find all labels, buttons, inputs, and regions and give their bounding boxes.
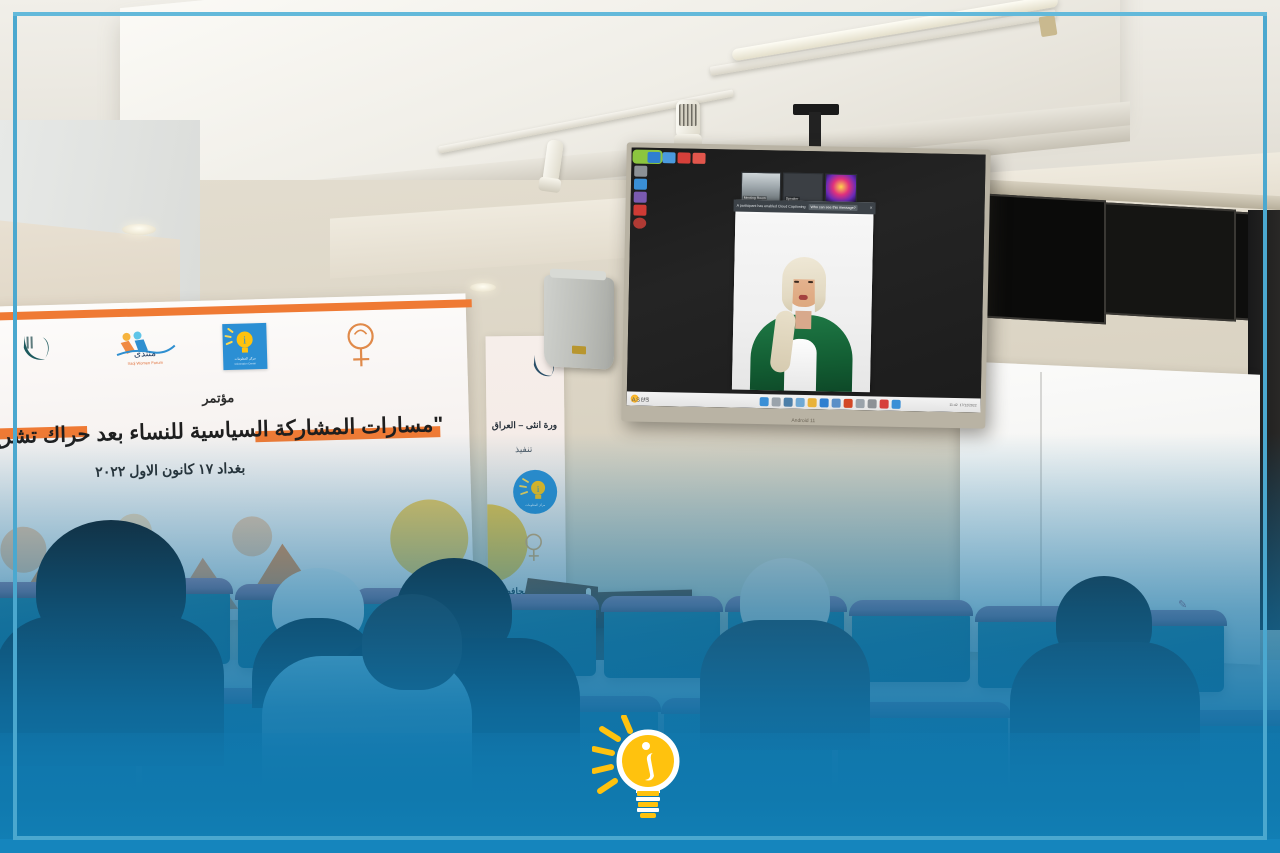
chair <box>852 604 970 682</box>
zoom-icon[interactable] <box>819 398 828 407</box>
shortcut-blue-3[interactable] <box>634 179 647 190</box>
taskbar-icon-group <box>711 396 950 410</box>
information-center-logo: i مركز المعلومات Information Center <box>222 323 267 370</box>
window-pane-middle <box>1104 202 1236 321</box>
windows-taskbar[interactable]: 14°C <box>627 391 981 412</box>
shortcut-icon-column <box>633 166 647 229</box>
display-brand-label: ASUS <box>632 398 650 404</box>
speaker-badge <box>572 346 586 355</box>
banner-title: "مسارات المشاركة السياسية للنساء بعد حرا… <box>0 412 453 451</box>
shortcut-red-3[interactable] <box>633 205 646 216</box>
speaker-eye <box>794 281 799 283</box>
svg-text:i: i <box>243 335 246 347</box>
rollup-line-2: تنفيذ <box>487 444 561 456</box>
photo-layer: ✎ <box>0 0 1280 853</box>
ceiling-downlight <box>470 283 496 292</box>
spotlight-grill <box>679 104 697 126</box>
notification-message: A participant has enabled Cloud Captioni… <box>737 204 806 209</box>
attendee-shoulders <box>0 616 224 766</box>
mail-icon[interactable] <box>855 399 864 408</box>
banner-subtitle: بغداد ١٧ كانون الاول ٢٠٢٢ <box>0 457 350 484</box>
chair <box>1186 714 1280 853</box>
search-icon[interactable] <box>771 397 780 406</box>
speaker-mouth <box>799 295 808 300</box>
acrobat-icon[interactable] <box>879 399 888 408</box>
shortcut-blue-1[interactable] <box>647 152 660 163</box>
svg-text:Information Center: Information Center <box>235 361 257 366</box>
svg-text:Iraqi Women Forum: Iraqi Women Forum <box>128 360 164 366</box>
attendee-shoulders <box>1010 642 1200 782</box>
speaker-eye <box>808 281 813 283</box>
upper-windows <box>952 186 1280 389</box>
participant-thumbnail-strip: Meeting Room Speaker <box>741 172 858 203</box>
file-explorer-icon[interactable] <box>807 398 816 407</box>
notification-help-button[interactable]: Who can see this message? <box>808 204 857 211</box>
media-icon[interactable] <box>867 399 876 408</box>
store-icon[interactable] <box>891 399 900 408</box>
wall-mounted-display[interactable]: Meeting Room Speaker <box>621 142 991 428</box>
participant-thumbnail-room[interactable]: Meeting Room <box>741 172 782 202</box>
windows-desktop: Meeting Room Speaker <box>627 147 986 412</box>
active-speaker-video <box>732 214 874 393</box>
clock-text: 11:42 <box>949 403 957 407</box>
powerpoint-icon[interactable] <box>843 398 852 407</box>
auditorium-seating <box>0 520 1280 853</box>
speaker-bracket <box>550 268 606 280</box>
start-icon[interactable] <box>759 397 768 406</box>
event-photo-canvas: ✎ <box>0 0 1280 853</box>
teams-icon[interactable] <box>831 398 840 407</box>
shortcut-record[interactable] <box>633 218 646 229</box>
edge-icon[interactable] <box>795 397 804 406</box>
participant-thumbnail-person[interactable]: Speaker <box>783 173 824 203</box>
taskbar-system-tray[interactable]: 11:42 17/12/2022 <box>949 403 980 408</box>
fluorescent-tube-bracket <box>1039 15 1058 37</box>
shortcut-icon-row <box>647 152 705 164</box>
ceiling-downlight <box>122 224 156 235</box>
close-icon[interactable]: × <box>870 205 873 211</box>
forum-logo: منتدى Iraqi Women Forum <box>110 327 181 369</box>
task-view-icon[interactable] <box>783 397 792 406</box>
participant-thumbnail-logo[interactable] <box>825 173 858 203</box>
svg-text:مركز المعلومات: مركز المعلومات <box>234 356 256 361</box>
shortcut-grey[interactable] <box>634 166 647 177</box>
shortcut-blue-2[interactable] <box>662 152 675 163</box>
banner-logo-row: منتدى Iraqi Women Forum i م <box>10 313 411 380</box>
svg-text:منتدى: منتدى <box>134 348 156 359</box>
shortcut-purple[interactable] <box>634 192 647 203</box>
date-text: 17/12/2022 <box>960 403 977 407</box>
banner-kicker: مؤتمر <box>0 384 448 413</box>
crescent-logo <box>18 331 53 366</box>
wall-pa-speaker <box>544 274 614 370</box>
venus-symbol-logo <box>340 320 381 371</box>
svg-text:مركز المعلومات: مركز المعلومات <box>525 503 545 507</box>
rollup-line-1: ورة انثى – العراق <box>486 420 562 432</box>
shortcut-red-2[interactable] <box>692 153 705 164</box>
speaker-neck <box>795 311 811 329</box>
display-screen[interactable]: Meeting Room Speaker <box>627 147 986 412</box>
shortcut-red-1[interactable] <box>677 152 690 163</box>
rollup-information-logo: i مركز المعلومات <box>513 470 557 514</box>
attendee-head <box>362 594 462 690</box>
attendee-shoulders <box>700 620 870 750</box>
